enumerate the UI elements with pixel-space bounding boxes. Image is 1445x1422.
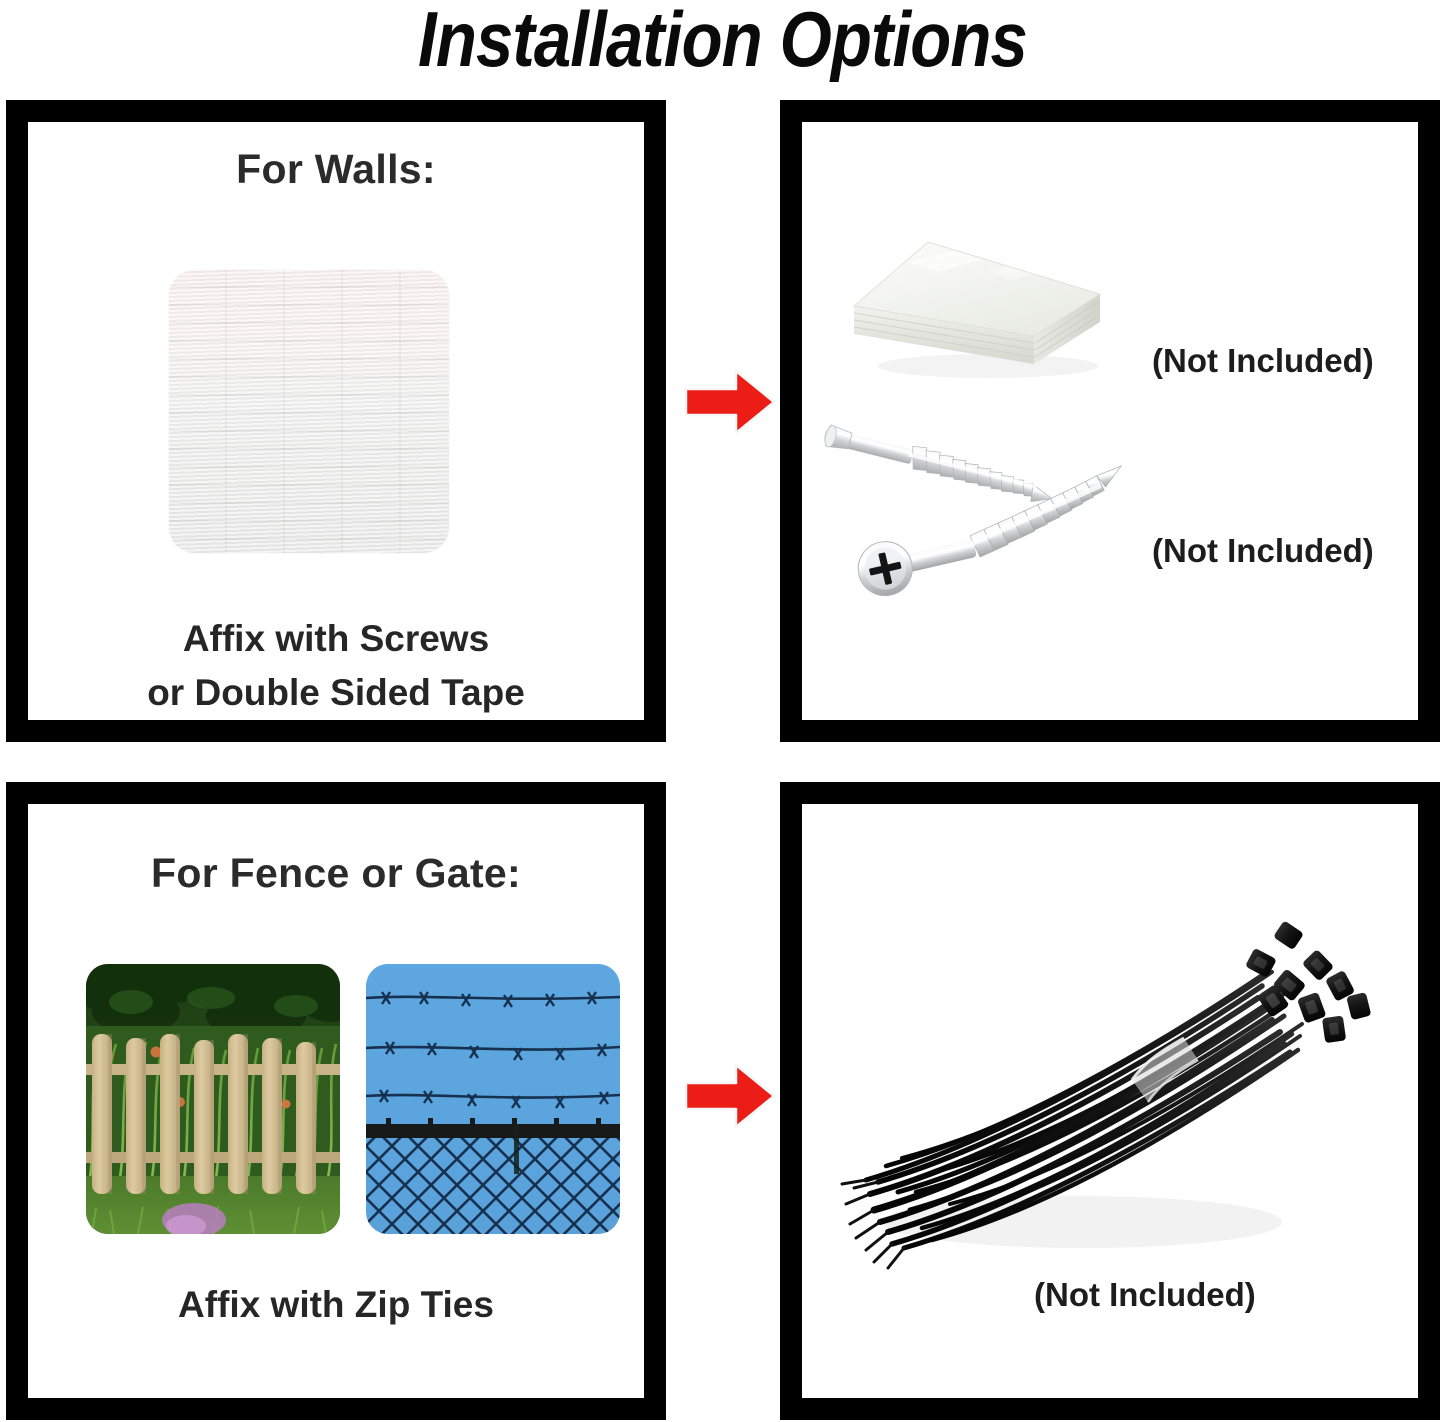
for-walls-caption: Affix with Screws or Double Sided Tape [28, 612, 644, 720]
zip-ties-not-included-note: (Not Included) [1034, 1276, 1256, 1314]
panel-for-walls: For Walls: Affix with Screws or Double S… [6, 100, 666, 742]
panel-for-fence-inner: For Fence or Gate: [28, 804, 644, 1398]
panel-fence-hardware-inner: (Not Included) [802, 804, 1418, 1398]
white-brick-wall-photo [169, 270, 449, 553]
panel-wall-hardware-inner: (Not Included) [802, 122, 1418, 720]
panel-fence-hardware: (Not Included) [780, 782, 1440, 1420]
for-walls-heading: For Walls: [28, 146, 644, 193]
panel-for-fence-or-gate: For Fence or Gate: [6, 782, 666, 1420]
tape-not-included-note: (Not Included) [1152, 342, 1374, 380]
installation-options-infographic: Installation Options For Walls: Affix wi… [0, 0, 1445, 1422]
for-walls-caption-line1: Affix with Screws [28, 612, 644, 666]
wood-screws-photo [814, 422, 1164, 612]
red-right-arrow-icon [684, 1062, 776, 1130]
for-fence-caption: Affix with Zip Ties [28, 1278, 644, 1332]
screws-not-included-note: (Not Included) [1152, 532, 1374, 570]
for-walls-caption-line2: or Double Sided Tape [28, 666, 644, 720]
panel-wall-hardware: (Not Included) [780, 100, 1440, 742]
red-right-arrow-icon [684, 368, 776, 436]
page-title: Installation Options [101, 0, 1344, 82]
for-fence-heading: For Fence or Gate: [28, 850, 644, 897]
double-sided-tape-stack-photo [838, 214, 1110, 386]
chain-link-barbed-wire-fence-photo [366, 964, 620, 1234]
wall-texture-overlay [169, 270, 449, 553]
wooden-picket-fence-photo [86, 964, 340, 1234]
black-zip-ties-bundle-photo [832, 892, 1392, 1282]
panel-for-walls-inner: For Walls: Affix with Screws or Double S… [28, 122, 644, 720]
